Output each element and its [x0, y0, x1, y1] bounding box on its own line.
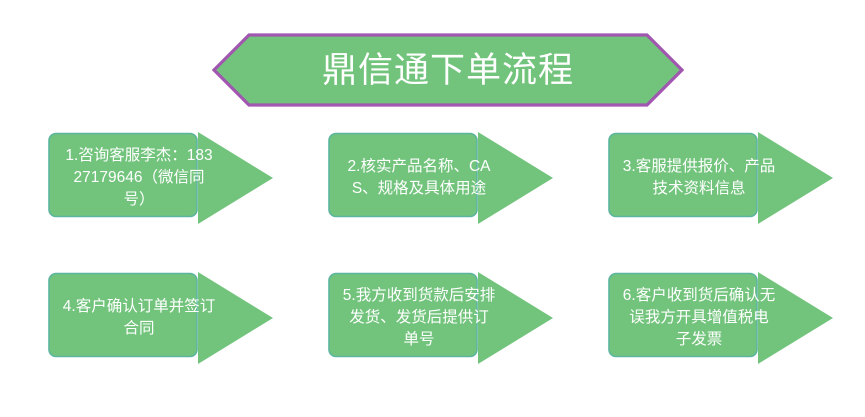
- flow-step-3-label: 3.客服提供报价、产品技术资料信息: [616, 132, 782, 224]
- title-banner: 鼎信通下单流程: [212, 33, 684, 107]
- flow-step-1[interactable]: 1.咨询客服李杰：18327179646（微信同号）: [48, 132, 273, 224]
- page-title: 鼎信通下单流程: [212, 33, 684, 107]
- flow-step-2[interactable]: 2.核实产品名称、CAS、规格及具体用途: [328, 132, 553, 224]
- flow-step-6-label: 6.客户收到货后确认无误我方开具增值税电子发票: [616, 272, 782, 364]
- flow-step-5[interactable]: 5.我方收到货款后安排发货、发货后提供订单号: [328, 272, 553, 364]
- flowchart-canvas: 鼎信通下单流程 1.咨询客服李杰：18327179646（微信同号） 2.核实产…: [0, 0, 865, 417]
- flow-step-4[interactable]: 4.客户确认订单并签订合同: [48, 272, 273, 364]
- flow-step-1-label: 1.咨询客服李杰：18327179646（微信同号）: [56, 132, 222, 224]
- flow-step-3[interactable]: 3.客服提供报价、产品技术资料信息: [608, 132, 833, 224]
- flow-step-4-label: 4.客户确认订单并签订合同: [56, 272, 222, 364]
- flow-step-2-label: 2.核实产品名称、CAS、规格及具体用途: [336, 132, 502, 224]
- flow-step-6[interactable]: 6.客户收到货后确认无误我方开具增值税电子发票: [608, 272, 833, 364]
- flow-step-5-label: 5.我方收到货款后安排发货、发货后提供订单号: [336, 272, 502, 364]
